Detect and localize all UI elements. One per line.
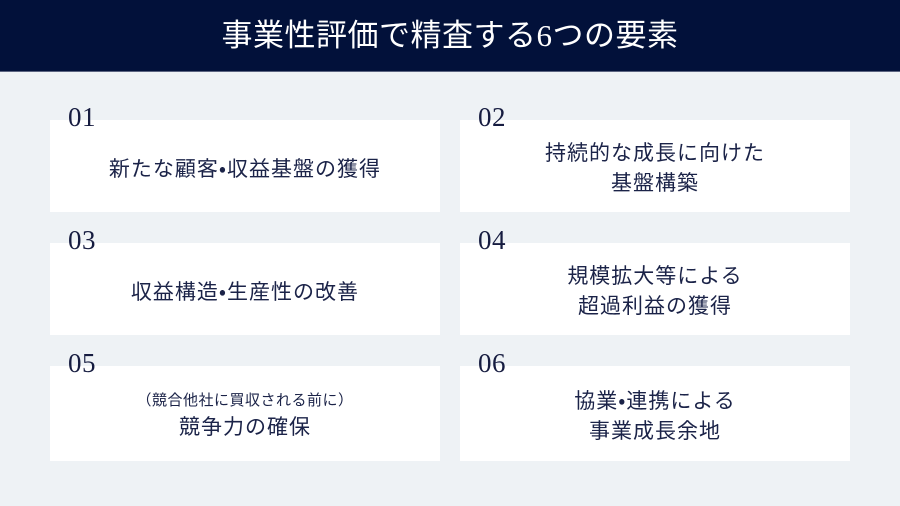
- page-title: 事業性評価で精査する6つの要素: [222, 20, 679, 51]
- header-band: 事業性評価で精査する6つの要素: [0, 0, 900, 72]
- element-card-01: 01 新たな顧客・収益基盤の獲得: [50, 120, 440, 212]
- card-line: 競争力の確保: [66, 413, 424, 443]
- card-line: 収益構造・生産性の改善: [66, 278, 424, 308]
- card-line: 持続的な成長に向けた: [476, 139, 834, 169]
- card-line-note: （競合他社に買収される前に）: [66, 390, 424, 413]
- card-line: 事業成長余地: [476, 417, 834, 447]
- card-line: 基盤構築: [476, 169, 834, 199]
- card-number-04: 04: [478, 227, 506, 254]
- card-number-03: 03: [68, 227, 96, 254]
- card-number-06: 06: [478, 350, 506, 377]
- card-number-01: 01: [68, 104, 96, 131]
- element-card-05: 05 （競合他社に買収される前に） 競争力の確保: [50, 366, 440, 461]
- card-body-06: 協業・連携による 事業成長余地: [460, 387, 850, 447]
- card-line: 協業・連携による: [476, 387, 834, 417]
- element-card-04: 04 規模拡大等による 超過利益の獲得: [460, 243, 850, 335]
- card-body-05: （競合他社に買収される前に） 競争力の確保: [50, 390, 440, 442]
- card-line: 規模拡大等による: [476, 262, 834, 292]
- card-body-02: 持続的な成長に向けた 基盤構築: [460, 139, 850, 199]
- element-card-06: 06 協業・連携による 事業成長余地: [460, 366, 850, 461]
- card-body-01: 新たな顧客・収益基盤の獲得: [50, 155, 440, 185]
- element-card-grid: 01 新たな顧客・収益基盤の獲得 02 持続的な成長に向けた 基盤構築 03 収…: [50, 120, 850, 461]
- element-card-02: 02 持続的な成長に向けた 基盤構築: [460, 120, 850, 212]
- card-line: 新たな顧客・収益基盤の獲得: [66, 155, 424, 185]
- card-body-03: 収益構造・生産性の改善: [50, 278, 440, 308]
- card-number-02: 02: [478, 104, 506, 131]
- element-card-03: 03 収益構造・生産性の改善: [50, 243, 440, 335]
- card-number-05: 05: [68, 350, 96, 377]
- slide-root: 事業性評価で精査する6つの要素 01 新たな顧客・収益基盤の獲得 02 持続的な…: [0, 0, 900, 506]
- card-line: 超過利益の獲得: [476, 292, 834, 322]
- card-body-04: 規模拡大等による 超過利益の獲得: [460, 262, 850, 322]
